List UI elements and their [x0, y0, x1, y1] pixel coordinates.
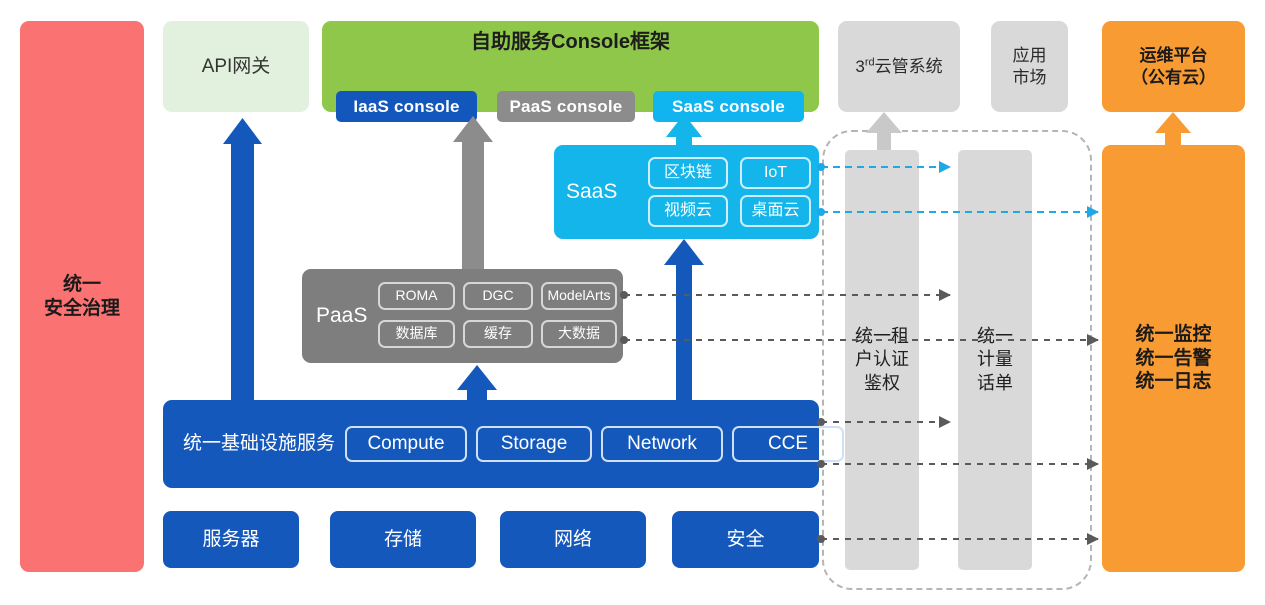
- third-party-cloud-mgmt-label: 3rd云管系统: [855, 56, 942, 77]
- ops-monitoring-label: 统一监控统一告警统一日志: [1135, 323, 1211, 394]
- paas-tag-roma[interactable]: ROMA: [378, 282, 455, 310]
- ops-monitoring-pillar: 统一监控统一告警统一日志: [1102, 145, 1245, 572]
- infra-tag-storage[interactable]: Storage: [476, 426, 592, 462]
- paas-label: PaaS: [316, 303, 367, 329]
- saas-tag-blockchain[interactable]: 区块链: [648, 157, 728, 189]
- api-gateway-box: API网关: [163, 21, 309, 112]
- paas-tag-database[interactable]: 数据库: [378, 320, 455, 348]
- saas-tag-desktop-cloud[interactable]: 桌面云: [740, 195, 811, 227]
- infra-tag-network[interactable]: Network: [601, 426, 723, 462]
- paas-tag-cache[interactable]: 缓存: [463, 320, 533, 348]
- api-gateway-label: API网关: [202, 55, 271, 79]
- app-market-label: 应用市场: [1013, 45, 1047, 88]
- self-service-console-framework: 自助服务Console框架 IaaS console PaaS console …: [322, 21, 819, 112]
- resource-box-security[interactable]: 安全: [672, 511, 819, 568]
- resource-box-network[interactable]: 网络: [500, 511, 646, 568]
- saas-console-chip[interactable]: SaaS console: [653, 91, 804, 122]
- paas-tag-dgc[interactable]: DGC: [463, 282, 533, 310]
- unified-tenant-auth-label: 统一租户认证鉴权: [855, 325, 909, 395]
- arrow-paas-to-console: [453, 116, 493, 269]
- unified-billing-label: 统一计量话单: [977, 325, 1013, 395]
- arrow-shared-to-ops-platform: [1155, 112, 1191, 145]
- paas-block: PaaS ROMA DGC ModelArts 数据库 缓存 大数据: [302, 269, 623, 363]
- resource-box-server[interactable]: 服务器: [163, 511, 299, 568]
- paas-console-chip[interactable]: PaaS console: [497, 91, 635, 122]
- arrow-infra-to-apigw: [223, 118, 262, 400]
- paas-tag-bigdata[interactable]: 大数据: [541, 320, 617, 348]
- unified-infrastructure-block: 统一基础设施服务 Compute Storage Network CCE: [163, 400, 819, 488]
- third-party-cloud-mgmt-box: 3rd云管系统: [838, 21, 960, 112]
- unified-security-pillar: 统一安全治理: [20, 21, 144, 572]
- superscript-rd: rd: [865, 56, 875, 68]
- ops-platform-public-cloud-box: 运维平台（公有云）: [1102, 21, 1245, 112]
- unified-infrastructure-label: 统一基础设施服务: [183, 432, 335, 456]
- ops-platform-label: 运维平台（公有云）: [1131, 45, 1216, 88]
- console-framework-title: 自助服务Console框架: [322, 30, 819, 55]
- iaas-console-chip[interactable]: IaaS console: [336, 91, 477, 122]
- saas-block: SaaS 区块链 IoT 视频云 桌面云: [554, 145, 819, 239]
- arrow-infra-to-saas: [664, 239, 704, 400]
- infra-tag-compute[interactable]: Compute: [345, 426, 467, 462]
- saas-label: SaaS: [566, 179, 617, 205]
- arrow-infra-to-paas: [457, 365, 497, 400]
- saas-tag-video-cloud[interactable]: 视频云: [648, 195, 728, 227]
- paas-tag-modelarts[interactable]: ModelArts: [541, 282, 617, 310]
- unified-tenant-auth-column: 统一租户认证鉴权: [845, 150, 919, 570]
- unified-billing-column: 统一计量话单: [958, 150, 1032, 570]
- unified-security-label: 统一安全治理: [44, 273, 120, 321]
- app-market-box: 应用市场: [991, 21, 1068, 112]
- resource-box-storage[interactable]: 存储: [330, 511, 476, 568]
- architecture-diagram: 统一安全治理 运维平台（公有云） 统一监控统一告警统一日志 API网关 自助服务…: [0, 0, 1265, 605]
- saas-tag-iot[interactable]: IoT: [740, 157, 811, 189]
